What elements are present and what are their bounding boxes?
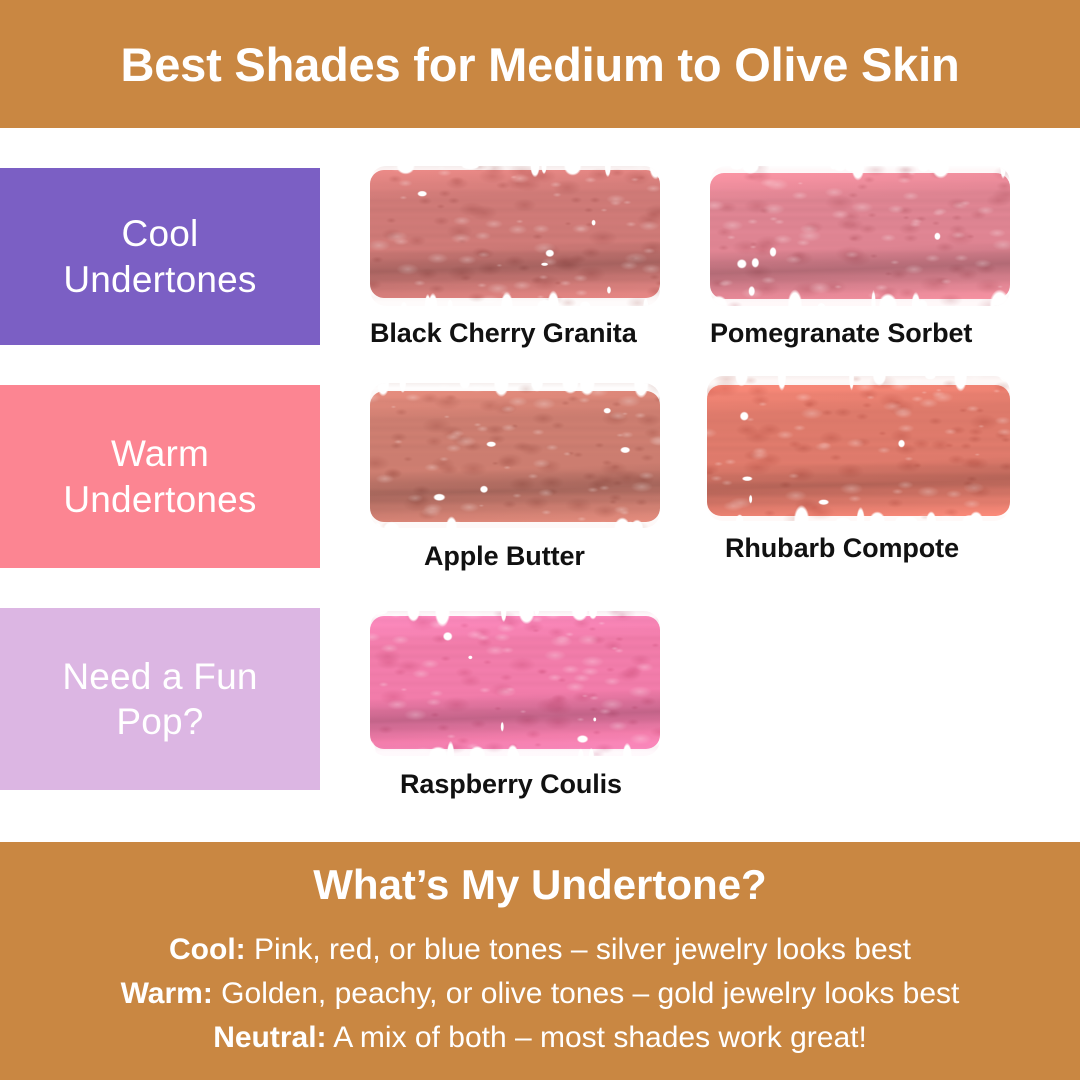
undertone-text-neutral: A mix of both – most shades work great!	[327, 1021, 867, 1054]
swatch-label-raspberry-coulis: Raspberry Coulis	[400, 769, 622, 800]
category-label-fun-pop-line1: Need a Fun	[62, 656, 257, 697]
undertone-text-warm: Golden, peachy, or olive tones – gold je…	[213, 977, 960, 1010]
page-title: Best Shades for Medium to Olive Skin	[121, 41, 960, 88]
category-label-fun-pop-line2: Pop?	[116, 701, 203, 742]
category-block-warm: Warm Undertones	[0, 385, 320, 568]
swatch-cell-rhubarb-compote: Rhubarb Compote	[707, 376, 1010, 521]
undertone-label-warm: Warm:	[121, 977, 213, 1010]
smear-highlights	[370, 611, 660, 756]
pigment-smear	[370, 611, 660, 756]
undertone-line-cool: Cool: Pink, red, or blue tones – silver …	[169, 928, 911, 972]
swatch-cell-black-cherry-granita: Black Cherry Granita	[370, 166, 660, 306]
category-label-cool-line2: Undertones	[63, 259, 256, 300]
category-label-warm: Warm Undertones	[55, 431, 264, 521]
smear-highlights	[707, 376, 1010, 521]
category-label-cool: Cool Undertones	[55, 211, 264, 301]
undertone-label-neutral: Neutral:	[213, 1021, 326, 1054]
header-band: Best Shades for Medium to Olive Skin	[0, 0, 1080, 128]
swatch-pomegranate-sorbet	[710, 166, 1010, 306]
undertone-text-cool: Pink, red, or blue tones – silver jewelr…	[246, 933, 911, 966]
swatch-cell-pomegranate-sorbet: Pomegranate Sorbet	[710, 166, 1010, 306]
swatch-label-black-cherry-granita: Black Cherry Granita	[370, 318, 637, 349]
swatch-cell-apple-butter: Apple Butter	[370, 383, 660, 528]
category-label-fun-pop: Need a Fun Pop?	[54, 654, 265, 744]
swatch-rhubarb-compote	[707, 376, 1010, 521]
shade-grid: Cool Undertones Warm Undertones Need a F…	[0, 128, 1080, 842]
pigment-smear	[710, 166, 1010, 306]
pigment-smear	[707, 376, 1010, 521]
swatch-black-cherry-granita	[370, 166, 660, 306]
swatch-apple-butter	[370, 383, 660, 528]
footer-band: What’s My Undertone? Cool: Pink, red, or…	[0, 842, 1080, 1080]
swatch-cell-raspberry-coulis: Raspberry Coulis	[370, 611, 660, 756]
swatch-label-pomegranate-sorbet: Pomegranate Sorbet	[710, 318, 972, 349]
category-label-cool-line1: Cool	[122, 213, 199, 254]
category-block-cool: Cool Undertones	[0, 168, 320, 345]
smear-highlights	[370, 383, 660, 528]
undertone-line-warm: Warm: Golden, peachy, or olive tones – g…	[121, 972, 960, 1016]
undertone-line-neutral: Neutral: A mix of both – most shades wor…	[213, 1016, 867, 1060]
category-label-warm-line2: Undertones	[63, 479, 256, 520]
pigment-smear	[370, 383, 660, 528]
category-block-fun-pop: Need a Fun Pop?	[0, 608, 320, 790]
footer-title: What’s My Undertone?	[313, 864, 766, 906]
swatch-label-rhubarb-compote: Rhubarb Compote	[725, 533, 959, 564]
swatch-label-apple-butter: Apple Butter	[424, 541, 585, 572]
category-label-warm-line1: Warm	[111, 433, 209, 474]
smear-highlights	[710, 166, 1010, 306]
smear-highlights	[370, 166, 660, 306]
swatch-raspberry-coulis	[370, 611, 660, 756]
undertone-label-cool: Cool:	[169, 933, 246, 966]
pigment-smear	[370, 166, 660, 306]
infographic-page: Best Shades for Medium to Olive Skin Coo…	[0, 0, 1080, 1080]
